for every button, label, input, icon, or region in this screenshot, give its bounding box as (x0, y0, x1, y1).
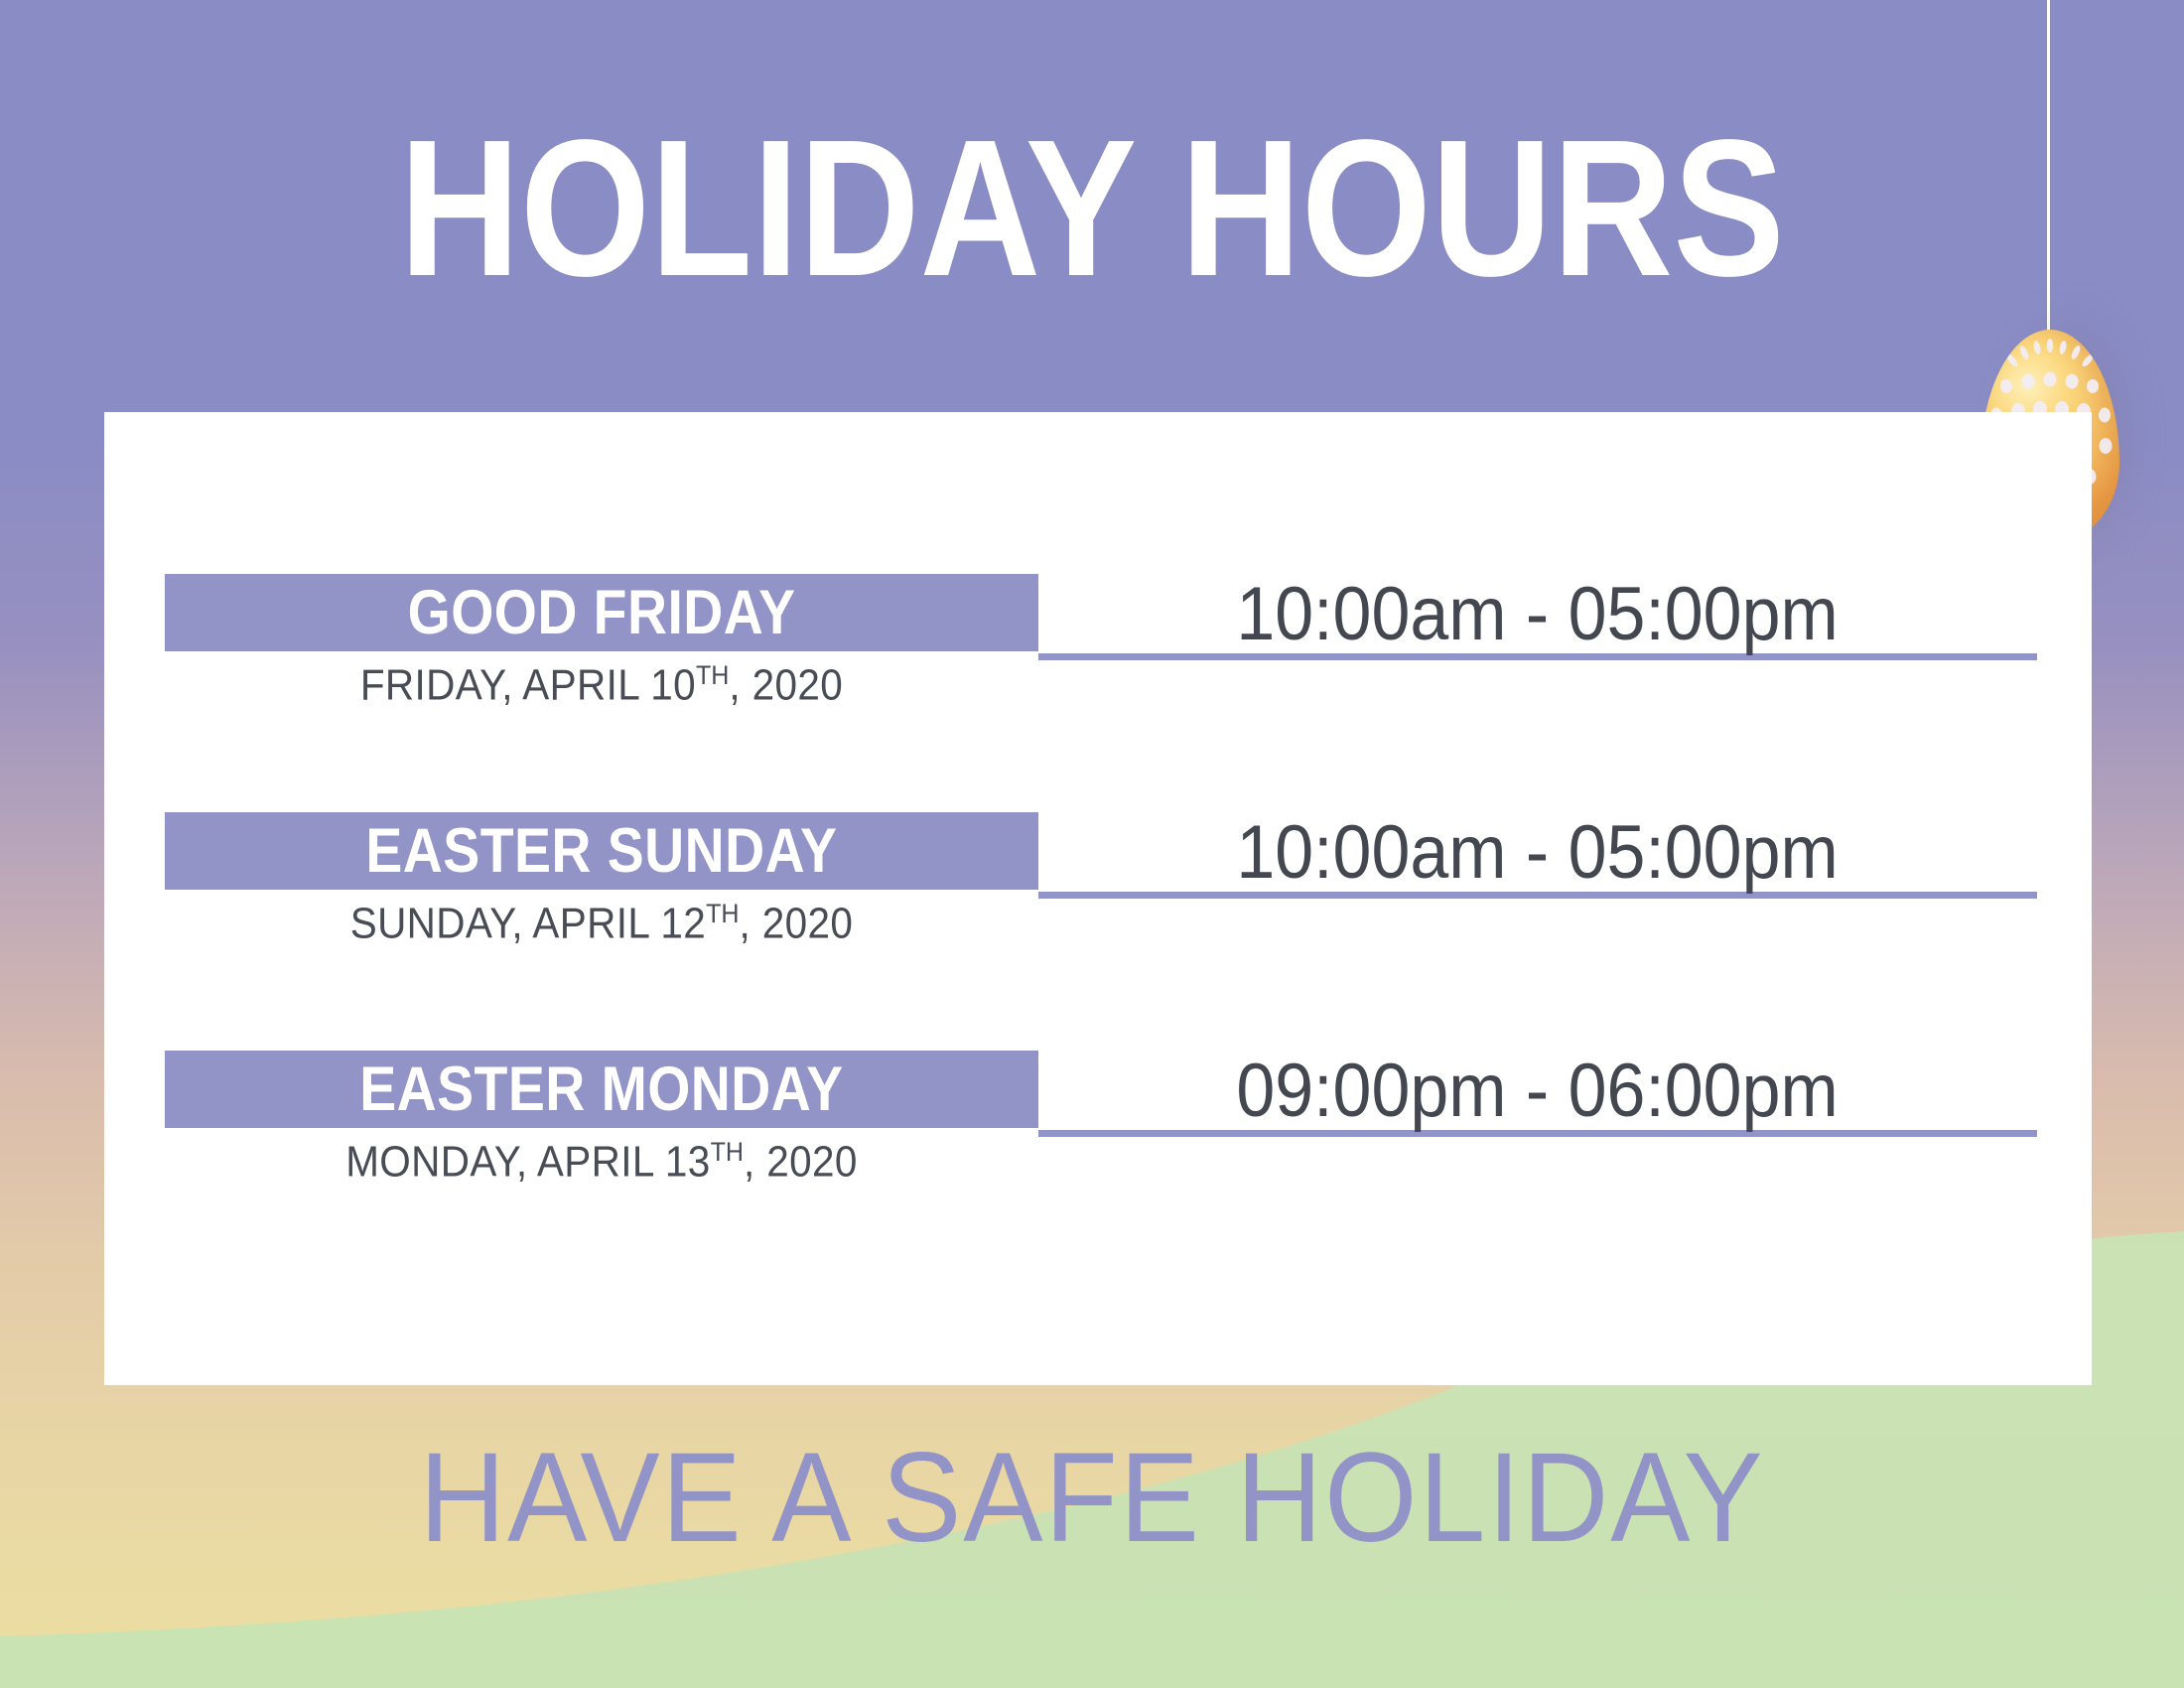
holiday-name: EASTER SUNDAY (365, 815, 837, 887)
holiday-name: EASTER MONDAY (359, 1054, 843, 1125)
holiday-date-suffix: , 2020 (729, 661, 843, 710)
page-title: HOLIDAY HOURS (153, 111, 2031, 306)
schedule-row: EASTER SUNDAY 10:00am - 05:00pm SUNDAY, … (165, 812, 2101, 890)
holiday-date: MONDAY, APRIL 13TH, 2020 (200, 1136, 1004, 1188)
schedule-row-top: EASTER MONDAY 09:00pm - 06:00pm (165, 1051, 2101, 1128)
holiday-date-prefix: FRIDAY, APRIL 10 (360, 661, 696, 710)
schedule-row-top: GOOD FRIDAY 10:00am - 05:00pm (165, 574, 2101, 651)
holiday-date-suffix: , 2020 (740, 900, 854, 948)
holiday-date: SUNDAY, APRIL 12TH, 2020 (200, 898, 1004, 949)
schedule-card: GOOD FRIDAY 10:00am - 05:00pm FRIDAY, AP… (104, 412, 2092, 1385)
holiday-date-ordinal: TH (706, 898, 739, 928)
holiday-date-suffix: , 2020 (744, 1138, 858, 1187)
holiday-name-bar: GOOD FRIDAY (165, 574, 1038, 651)
holiday-hours-cell: 10:00am - 05:00pm (1038, 574, 2037, 660)
footer-message: HAVE A SAFE HOLIDAY (66, 1425, 2118, 1571)
holiday-date-ordinal: TH (711, 1136, 744, 1167)
holiday-hours-cell: 09:00pm - 06:00pm (1038, 1051, 2037, 1137)
holiday-hours-cell: 10:00am - 05:00pm (1038, 812, 2037, 899)
schedule-row: GOOD FRIDAY 10:00am - 05:00pm FRIDAY, AP… (165, 574, 2101, 651)
holiday-name-bar: EASTER SUNDAY (165, 812, 1038, 890)
egg-string-icon (2047, 0, 2050, 338)
holiday-hours-poster: HOLIDAY HOURS (0, 0, 2184, 1688)
holiday-hours: 09:00pm - 06:00pm (1237, 1048, 1839, 1134)
holiday-hours: 10:00am - 05:00pm (1237, 809, 1839, 896)
schedule-row: EASTER MONDAY 09:00pm - 06:00pm MONDAY, … (165, 1051, 2101, 1128)
holiday-name: GOOD FRIDAY (408, 577, 796, 648)
holiday-name-bar: EASTER MONDAY (165, 1051, 1038, 1128)
holiday-date-prefix: SUNDAY, APRIL 12 (350, 900, 706, 948)
schedule-row-top: EASTER SUNDAY 10:00am - 05:00pm (165, 812, 2101, 890)
holiday-date-prefix: MONDAY, APRIL 13 (345, 1138, 710, 1187)
holiday-date-ordinal: TH (696, 659, 729, 690)
holiday-date: FRIDAY, APRIL 10TH, 2020 (200, 659, 1004, 711)
holiday-hours: 10:00am - 05:00pm (1237, 571, 1839, 657)
